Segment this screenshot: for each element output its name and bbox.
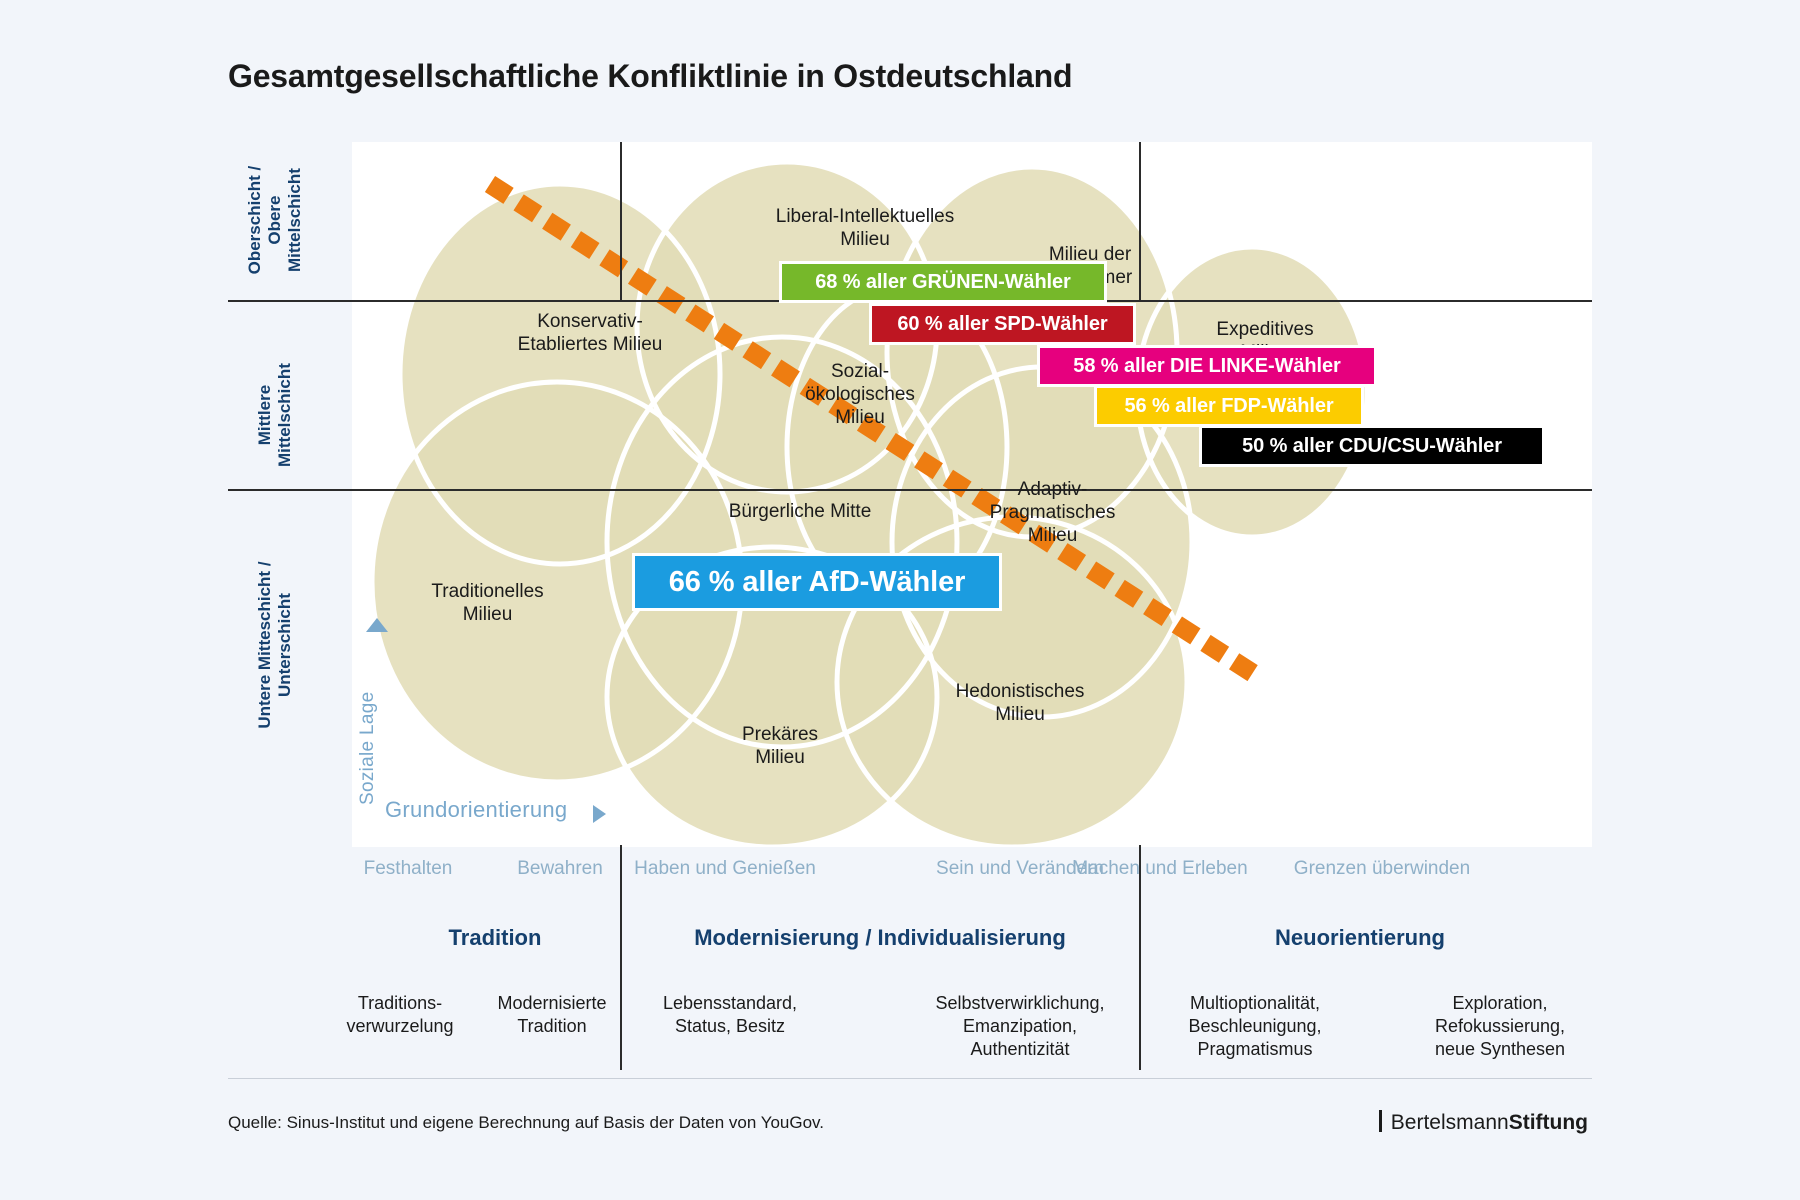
section-head-neuorientierung: Neuorientierung	[1150, 925, 1570, 951]
section-desc-selbstverwirklichung: Selbstverwirklichung, Emanzipation, Auth…	[905, 992, 1135, 1061]
grundorientierung-arrow-icon	[593, 805, 606, 823]
page-title: Gesamtgesellschaftliche Konfliktlinie in…	[228, 58, 1072, 95]
bertelsmann-stiftung-logo: BertelsmannStiftung	[1379, 1110, 1588, 1135]
milieu-label-buergerliche-mitte: Bürgerliche Mitte	[680, 500, 920, 523]
section-rule-2	[1139, 845, 1141, 1070]
strata-rule-2	[228, 489, 1592, 491]
section-desc-exploration: Exploration, Refokussierung, neue Synthe…	[1395, 992, 1605, 1061]
milieu-label-adaptiv-pragmatisches: Adaptiv- Pragmatisches Milieu	[955, 478, 1150, 548]
infographic-root: Gesamtgesellschaftliche Konfliktlinie in…	[0, 0, 1800, 1200]
logo-bar-icon	[1379, 1110, 1382, 1132]
milieu-label-konservativ-etabliertes: Konservativ- Etabliertes Milieu	[475, 310, 705, 356]
column-rule-top-1	[620, 142, 622, 300]
milieu-label-hedonistisches: Hedonistisches Milieu	[920, 680, 1120, 726]
section-desc-lebensstandard: Lebensstandard, Status, Besitz	[630, 992, 830, 1038]
milieu-label-prekaeres: Prekäres Milieu	[700, 723, 860, 769]
milieu-label-traditionelles: Traditionelles Milieu	[390, 580, 585, 626]
party-box-spd[interactable]: 60 % aller SPD-Wähler	[869, 303, 1136, 345]
section-head-modernisierung: Modernisierung / Individualisierung	[630, 925, 1130, 951]
party-box-fdp[interactable]: 56 % aller FDP-Wähler	[1094, 385, 1364, 427]
section-desc-modernisierte-tradition: Modernisierte Tradition	[462, 992, 642, 1038]
logo-text-bold: Stiftung	[1509, 1111, 1588, 1134]
axis-label-grundorientierung: Grundorientierung	[385, 797, 567, 823]
milieu-label-sozialoekologisches: Sozial- ökologisches Milieu	[775, 360, 945, 430]
logo-text-light: Bertelsmann	[1391, 1111, 1509, 1134]
milieu-label-liberal-intellektuelles: Liberal-Intellektuelles Milieu	[740, 205, 990, 251]
section-desc-multioptionalitaet: Multioptionalität, Beschleunigung, Pragm…	[1150, 992, 1360, 1061]
footer-divider	[228, 1078, 1592, 1079]
value-tick-machen-erleben: Machen und Erleben	[1040, 858, 1280, 880]
party-box-afd[interactable]: 66 % aller AfD-Wähler	[632, 553, 1002, 611]
section-head-tradition: Tradition	[370, 925, 620, 951]
strata-label-untere: Untere Mitteschicht / Unterschicht	[255, 530, 295, 760]
strata-label-oberschicht: Oberschicht / Obere Mittelschicht	[245, 130, 305, 310]
soziale-lage-arrow-icon	[366, 618, 388, 632]
source-note: Quelle: Sinus-Institut und eigene Berech…	[228, 1113, 824, 1133]
party-box-gruene[interactable]: 68 % aller GRÜNEN-Wähler	[779, 261, 1107, 303]
party-box-cdu[interactable]: 50 % aller CDU/CSU-Wähler	[1199, 425, 1545, 467]
strata-label-mittlere: Mittlere Mittelschicht	[255, 340, 295, 490]
party-box-linke[interactable]: 58 % aller DIE LINKE-Wähler	[1037, 345, 1377, 387]
value-tick-haben-geniessen: Haben und Genießen	[605, 858, 845, 880]
value-tick-grenzen-ueberwinden: Grenzen überwinden	[1252, 858, 1512, 880]
axis-label-soziale-lage: Soziale Lage	[357, 640, 383, 805]
